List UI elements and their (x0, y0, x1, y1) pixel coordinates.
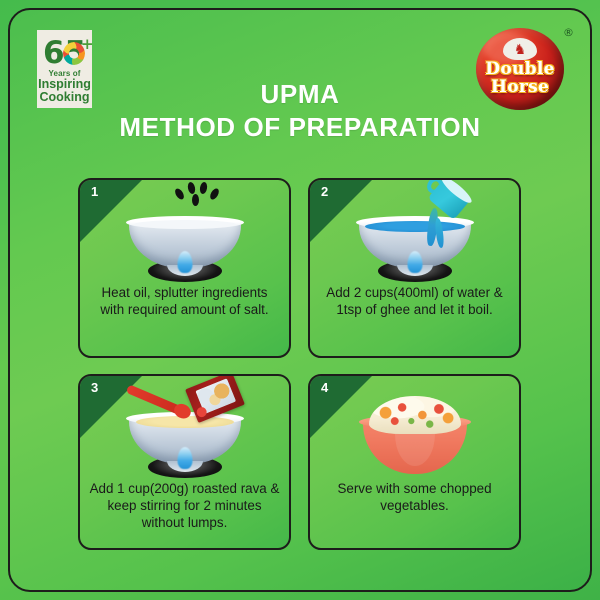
step-3-illustration (80, 376, 289, 480)
step-3-caption: Add 1 cup(200g) roasted rava & keep stir… (80, 480, 289, 531)
step-card-3: 3 Add 1 cup(200g) roasted rava & (78, 374, 291, 550)
anniversary-plus: + (81, 35, 94, 53)
mustard-seed-icon (208, 187, 220, 201)
water-surface (365, 221, 465, 232)
steps-grid: 1 Heat oil, splutter ingredients wit (78, 178, 542, 550)
step-card-4: 4 Serve with some chopped vegetables. (308, 374, 521, 550)
registered-trademark-icon: ® (563, 26, 574, 39)
flame-icon (177, 447, 192, 469)
mustard-seed-icon (173, 187, 185, 201)
recipe-poster: 65 + Years of Inspiring Cooking ♞ Double… (0, 0, 600, 600)
brand-logo-word1: Double (476, 59, 564, 79)
title-line-1: UPMA (10, 78, 590, 110)
mustard-seed-icon (199, 181, 208, 194)
title-line-2: METHOD OF PREPARATION (10, 110, 590, 144)
step-4-illustration (310, 376, 519, 480)
poster-inner-frame: 65 + Years of Inspiring Cooking ♞ Double… (8, 8, 592, 592)
step-2-caption: Add 2 cups(400ml) of water & 1tsp of ghe… (310, 284, 519, 318)
horse-glyph: ♞ (514, 42, 527, 56)
step-card-1: 1 Heat oil, splutter ingredients wit (78, 178, 291, 358)
step-1-illustration (80, 180, 289, 284)
step-2-illustration (310, 180, 519, 284)
mustard-seed-icon (192, 194, 199, 206)
step-1-caption: Heat oil, splutter ingredients with requ… (80, 284, 289, 318)
step-4-caption: Serve with some chopped vegetables. (310, 480, 519, 514)
flame-icon (407, 251, 422, 273)
flame-icon (177, 251, 192, 273)
horse-icon: ♞ (503, 38, 537, 60)
page-title: UPMA METHOD OF PREPARATION (10, 78, 590, 144)
step-card-2: 2 Add 2 (308, 178, 521, 358)
pan-inner (134, 220, 236, 229)
mustard-seed-icon (187, 181, 196, 194)
anniversary-number-row: 65 + (41, 38, 88, 68)
upma-with-vegetables-icon (369, 396, 461, 434)
